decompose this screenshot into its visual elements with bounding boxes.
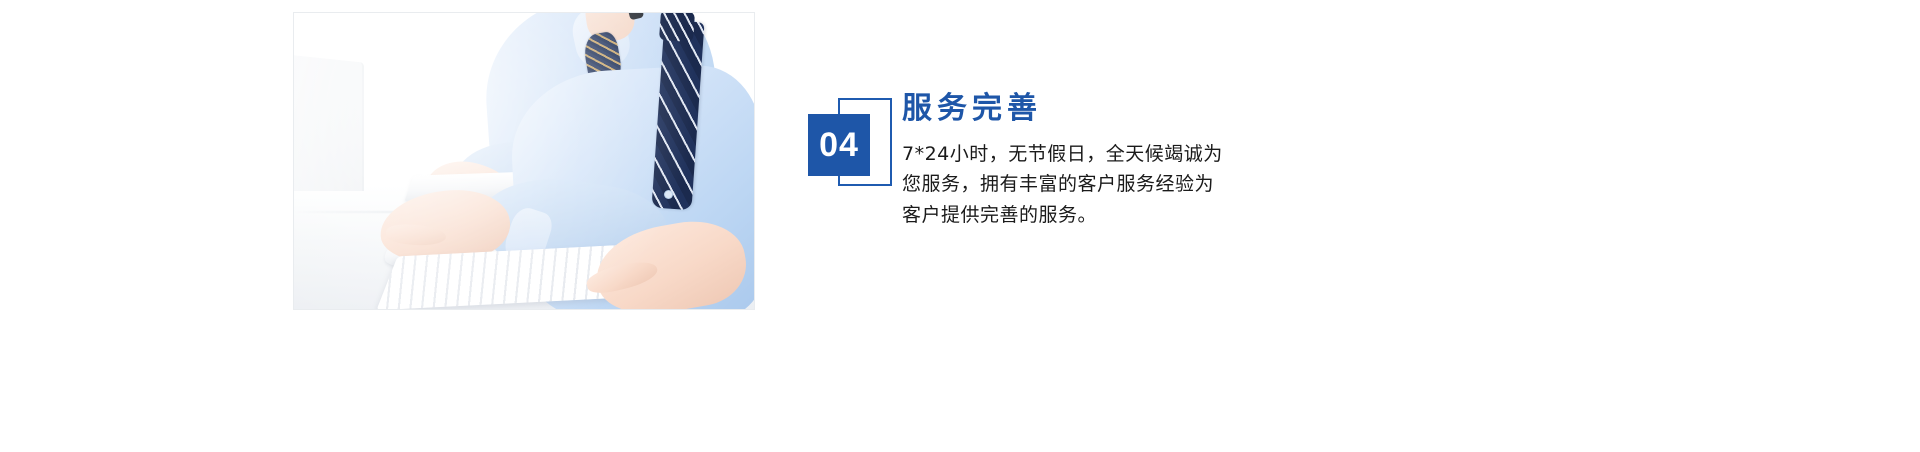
front-person-necktie-knot-shape [659,13,695,42]
feature-description: 7*24小时，无节假日，全天候竭诚为 您服务，拥有丰富的客户服务经验为 客户提供… [902,139,1223,231]
feature-block: 04 服务完善 7*24小时，无节假日，全天候竭诚为 您服务，拥有丰富的客户服务… [808,92,1223,231]
feature-description-line-2: 您服务，拥有丰富的客户服务经验为 [902,169,1223,200]
badge-filled-square: 04 [808,114,870,176]
shirt-button-shape [665,191,672,198]
photo-scene [294,13,754,309]
feature-banner: 04 服务完善 7*24小时，无节假日，全天候竭诚为 您服务，拥有丰富的客户服务… [0,0,1920,452]
feature-description-line-1: 7*24小时，无节假日，全天候竭诚为 [902,139,1223,170]
feature-number-badge: 04 [808,98,894,202]
feature-photo [293,12,755,310]
feature-description-line-3: 客户提供完善的服务。 [902,200,1223,231]
badge-number-label: 04 [819,128,859,162]
feature-text-group: 服务完善 7*24小时，无节假日，全天候竭诚为 您服务，拥有丰富的客户服务经验为… [902,92,1223,231]
feature-title: 服务完善 [902,92,1223,127]
